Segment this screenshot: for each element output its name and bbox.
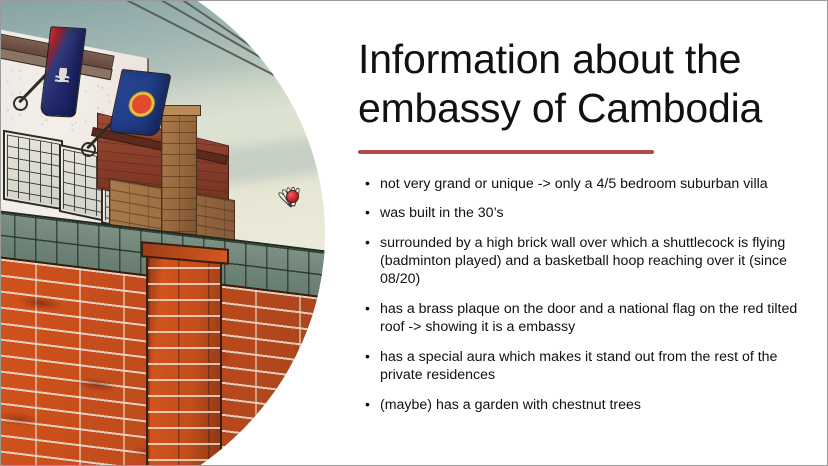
- shuttlecock-icon: [277, 167, 311, 201]
- brick-chimney: [161, 109, 197, 241]
- list-item: has a special aura which makes it stand …: [358, 349, 810, 385]
- asean-emblem-icon: [126, 90, 157, 118]
- angkor-wat-emblem-icon: [54, 68, 71, 91]
- illustration-panel: [1, 1, 331, 465]
- bullet-list: not very grand or unique -> only a 4/5 b…: [358, 176, 810, 415]
- slide-content: Information about the embassy of Cambodi…: [358, 35, 810, 426]
- list-item: not very grand or unique -> only a 4/5 b…: [358, 176, 810, 194]
- list-item: has a brass plaque on the door and a nat…: [358, 301, 810, 337]
- shuttlecock-cork: [286, 190, 299, 203]
- house-window: [3, 130, 63, 211]
- presentation-slide: Information about the embassy of Cambodi…: [0, 0, 828, 466]
- title-underline-rule: [358, 150, 654, 154]
- list-item: (maybe) has a garden with chestnut trees: [358, 397, 810, 415]
- brick-pier: [146, 249, 222, 465]
- list-item: was built in the 30’s: [358, 205, 810, 223]
- list-item: surrounded by a high brick wall over whi…: [358, 235, 810, 289]
- illustration-canvas: [1, 1, 325, 465]
- page-title: Information about the embassy of Cambodi…: [358, 35, 810, 133]
- illustration-oval-clip: [1, 1, 325, 465]
